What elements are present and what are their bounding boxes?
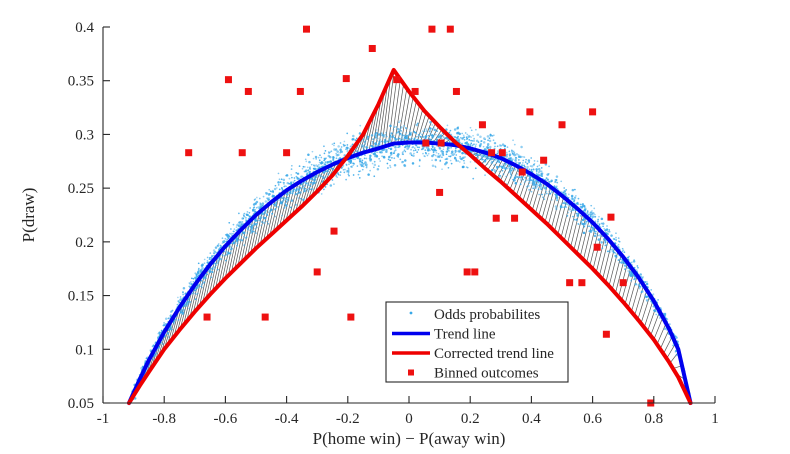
odds-point: [387, 167, 389, 169]
odds-point: [416, 136, 418, 138]
odds-point: [168, 336, 170, 338]
odds-point: [441, 138, 443, 140]
odds-point: [372, 142, 374, 144]
odds-point: [297, 192, 299, 194]
odds-point: [529, 168, 531, 170]
odds-point: [570, 206, 572, 208]
odds-point: [570, 211, 572, 213]
odds-point: [146, 358, 148, 360]
binned-outcome-point: [239, 149, 246, 156]
odds-point: [431, 148, 433, 150]
odds-point: [564, 206, 566, 208]
odds-point: [466, 138, 468, 140]
odds-point: [630, 280, 632, 282]
odds-point: [454, 136, 456, 138]
odds-point: [223, 240, 225, 242]
odds-point: [246, 232, 248, 234]
odds-point: [358, 174, 360, 176]
odds-point: [163, 322, 165, 324]
odds-point: [252, 224, 254, 226]
odds-point: [266, 221, 268, 223]
odds-point: [441, 168, 443, 170]
odds-point: [423, 155, 425, 157]
odds-point: [340, 142, 342, 144]
y-tick-label: 0.4: [75, 20, 94, 36]
odds-point: [209, 257, 211, 259]
odds-point: [601, 223, 603, 225]
odds-point: [463, 135, 465, 137]
odds-point: [301, 175, 303, 177]
odds-point: [653, 293, 655, 295]
odds-point: [526, 166, 529, 169]
odds-point: [615, 239, 617, 241]
odds-point: [400, 133, 402, 135]
odds-point: [439, 160, 441, 162]
odds-point: [259, 203, 262, 206]
odds-point: [217, 260, 219, 262]
odds-point: [346, 149, 348, 151]
odds-point: [475, 154, 477, 156]
odds-point: [256, 227, 258, 229]
odds-point: [394, 146, 397, 149]
odds-point: [378, 142, 380, 144]
odds-point: [268, 189, 270, 191]
odds-point: [188, 286, 190, 288]
odds-point: [487, 139, 489, 141]
odds-point: [584, 205, 586, 207]
odds-point: [526, 163, 528, 165]
odds-point: [554, 185, 556, 187]
odds-point: [207, 260, 209, 262]
odds-point: [473, 143, 475, 145]
odds-point: [191, 283, 193, 285]
odds-point: [567, 215, 569, 217]
odds-point: [519, 156, 522, 159]
odds-point: [237, 242, 239, 244]
odds-point: [277, 206, 279, 208]
odds-point: [568, 194, 570, 196]
odds-point: [541, 170, 543, 172]
binned-outcome-point: [493, 215, 500, 222]
odds-point: [366, 146, 369, 149]
odds-point: [576, 219, 578, 221]
odds-point: [285, 203, 287, 205]
odds-point: [499, 166, 501, 168]
binned-outcome-point: [594, 244, 601, 251]
odds-point: [609, 251, 611, 253]
odds-point: [466, 136, 468, 138]
odds-point: [543, 186, 546, 189]
odds-point: [416, 124, 419, 127]
odds-point: [359, 160, 361, 162]
odds-point: [422, 153, 424, 155]
odds-point: [511, 175, 513, 177]
odds-point: [290, 206, 292, 208]
odds-point: [518, 159, 520, 161]
odds-point: [468, 135, 470, 137]
odds-point: [328, 151, 330, 153]
odds-point: [448, 167, 450, 169]
odds-point: [523, 156, 525, 158]
x-tick-label: 0.6: [583, 411, 602, 427]
odds-point: [434, 147, 436, 149]
odds-point: [387, 141, 389, 143]
odds-point: [580, 221, 582, 223]
odds-point: [529, 182, 531, 184]
odds-point: [211, 276, 213, 278]
odds-point: [229, 236, 231, 238]
odds-point: [324, 159, 326, 161]
odds-point: [271, 209, 273, 211]
odds-point: [479, 136, 482, 139]
binned-outcome-point: [225, 76, 232, 83]
odds-point: [409, 132, 412, 135]
odds-point: [364, 141, 366, 143]
odds-point: [222, 254, 224, 256]
odds-point: [201, 283, 203, 285]
odds-point: [562, 206, 564, 208]
odds-point: [520, 179, 522, 181]
odds-point: [580, 204, 582, 206]
odds-point: [408, 147, 410, 149]
odds-point: [452, 152, 454, 154]
odds-point: [207, 257, 209, 259]
odds-point: [297, 197, 299, 199]
odds-point: [487, 157, 490, 160]
odds-point: [356, 138, 358, 140]
odds-point: [291, 168, 293, 170]
odds-point: [448, 155, 450, 157]
odds-point: [308, 191, 310, 193]
odds-point: [319, 154, 321, 156]
odds-point: [305, 182, 307, 184]
odds-point: [195, 290, 197, 292]
odds-point: [443, 138, 445, 140]
odds-point: [540, 188, 542, 190]
odds-point: [582, 223, 584, 225]
odds-point: [411, 138, 413, 140]
odds-point: [490, 134, 492, 136]
odds-point: [522, 162, 524, 164]
binned-outcome-point: [436, 189, 443, 196]
odds-point: [429, 139, 431, 141]
odds-point: [463, 162, 465, 164]
odds-point: [510, 170, 512, 172]
odds-point: [253, 231, 255, 233]
odds-point: [614, 238, 616, 240]
odds-point: [549, 194, 551, 196]
odds-point: [186, 303, 188, 305]
odds-point: [540, 186, 542, 188]
odds-point: [227, 254, 229, 256]
odds-point: [359, 170, 361, 172]
odds-point: [311, 188, 314, 191]
odds-point: [446, 153, 448, 155]
odds-point: [518, 176, 520, 178]
odds-point: [198, 262, 200, 264]
odds-point: [357, 147, 359, 149]
odds-point: [397, 131, 399, 133]
odds-point: [508, 166, 510, 168]
odds-point: [544, 194, 546, 196]
odds-point: [433, 154, 435, 156]
odds-point: [502, 163, 504, 165]
odds-point: [445, 161, 448, 164]
odds-point: [429, 134, 431, 136]
odds-point: [550, 181, 552, 183]
odds-point: [241, 234, 243, 236]
binned-outcome-point: [526, 108, 533, 115]
odds-point: [246, 214, 248, 216]
odds-point: [222, 237, 224, 239]
odds-point: [302, 168, 304, 170]
odds-point: [538, 165, 540, 167]
odds-point: [254, 228, 256, 230]
odds-point: [486, 147, 489, 150]
odds-point: [542, 196, 544, 198]
odds-point: [236, 245, 238, 247]
odds-point: [507, 168, 509, 170]
odds-point: [556, 175, 559, 178]
odds-point: [236, 241, 238, 243]
odds-point: [605, 244, 607, 246]
odds-point: [204, 262, 206, 264]
odds-point: [563, 190, 566, 193]
odds-point: [264, 212, 267, 215]
odds-point: [401, 136, 403, 138]
odds-point: [429, 130, 431, 132]
odds-point: [209, 252, 211, 254]
odds-point: [402, 153, 404, 155]
odds-point: [533, 168, 535, 170]
binned-outcome-point: [519, 169, 526, 176]
odds-point: [412, 162, 415, 165]
odds-point: [168, 317, 170, 319]
odds-point: [312, 182, 314, 184]
odds-point: [454, 128, 457, 131]
odds-point: [217, 244, 220, 247]
odds-point: [461, 133, 463, 135]
odds-point: [337, 172, 339, 174]
odds-point: [347, 144, 349, 146]
odds-point: [505, 163, 507, 165]
odds-point: [283, 179, 286, 182]
odds-point: [381, 132, 383, 134]
odds-point: [256, 207, 258, 209]
odds-point: [403, 135, 405, 137]
odds-point: [574, 219, 576, 221]
odds-point: [425, 153, 427, 155]
odds-point: [354, 158, 356, 160]
y-tick-label: 0.3: [75, 127, 94, 143]
odds-point: [279, 178, 281, 180]
binned-outcome-point: [303, 26, 310, 33]
odds-point: [257, 206, 259, 208]
odds-point: [310, 188, 312, 190]
x-tick-label: 0.8: [644, 411, 663, 427]
odds-point: [389, 165, 391, 167]
odds-point: [321, 193, 323, 195]
odds-point: [414, 147, 416, 149]
odds-point: [215, 252, 217, 254]
odds-point: [650, 289, 652, 291]
odds-point: [235, 229, 237, 231]
odds-point: [551, 199, 553, 201]
odds-point: [435, 134, 437, 136]
odds-point: [268, 197, 270, 199]
odds-point: [228, 222, 230, 224]
odds-point: [212, 255, 214, 257]
odds-point: [465, 132, 467, 134]
odds-point: [607, 251, 609, 253]
odds-point: [514, 154, 517, 157]
odds-point: [422, 147, 425, 150]
y-tick-label: 0.2: [75, 235, 94, 251]
odds-point: [230, 249, 232, 251]
odds-point: [545, 191, 547, 193]
odds-point: [285, 186, 287, 188]
odds-point: [514, 177, 517, 180]
odds-point: [467, 167, 469, 169]
odds-point: [310, 181, 312, 183]
odds-point: [363, 145, 365, 147]
odds-point: [522, 160, 524, 162]
odds-point: [580, 206, 582, 208]
odds-point: [500, 145, 502, 147]
odds-point: [419, 165, 421, 167]
odds-point: [389, 159, 391, 161]
odds-point: [233, 230, 235, 232]
odds-point: [325, 161, 327, 163]
odds-point: [332, 143, 334, 145]
odds-point: [352, 135, 355, 138]
odds-point: [582, 205, 584, 207]
odds-point: [518, 154, 520, 156]
odds-point: [426, 128, 428, 130]
odds-point: [413, 150, 415, 152]
binned-outcome-point: [343, 75, 350, 82]
binned-outcome-point: [283, 149, 290, 156]
odds-point: [555, 179, 557, 181]
odds-point: [389, 125, 392, 128]
odds-point: [457, 126, 459, 128]
odds-point: [333, 142, 335, 144]
odds-point: [494, 158, 497, 161]
odds-point: [503, 173, 505, 175]
odds-point: [277, 181, 280, 184]
odds-point: [525, 159, 527, 161]
odds-point: [445, 158, 447, 160]
odds-point: [450, 155, 452, 157]
odds-point: [429, 150, 431, 152]
odds-point: [376, 151, 378, 153]
odds-point: [296, 188, 298, 190]
odds-point: [405, 132, 407, 134]
odds-point: [502, 170, 504, 172]
odds-point: [608, 229, 610, 231]
odds-point: [602, 225, 604, 227]
odds-point: [204, 259, 206, 261]
odds-point: [281, 187, 283, 189]
odds-point: [497, 145, 499, 147]
odds-point: [218, 243, 220, 245]
odds-point: [522, 179, 524, 181]
odds-point: [633, 279, 635, 281]
odds-point: [487, 145, 489, 147]
binned-outcome-point: [204, 314, 211, 321]
odds-point: [470, 161, 472, 163]
odds-point: [243, 236, 245, 238]
legend-item-label: Binned outcomes: [434, 366, 539, 382]
odds-point: [511, 149, 513, 151]
odds-point: [315, 156, 318, 159]
odds-point: [602, 222, 605, 225]
odds-point: [565, 189, 567, 191]
odds-point: [363, 163, 365, 165]
odds-point: [268, 199, 270, 201]
odds-point: [411, 154, 413, 156]
odds-point: [244, 231, 246, 233]
odds-point: [548, 190, 550, 192]
odds-point: [378, 158, 380, 160]
legend-item-label: Trend line: [434, 327, 496, 343]
odds-point: [161, 330, 163, 332]
odds-point: [459, 156, 461, 158]
odds-point: [477, 134, 480, 137]
odds-point: [319, 159, 321, 161]
odds-point: [377, 138, 379, 140]
odds-point: [350, 145, 352, 147]
odds-point: [526, 186, 528, 188]
odds-point: [366, 167, 368, 169]
odds-point: [412, 154, 415, 157]
odds-point: [335, 148, 337, 150]
odds-point: [242, 231, 244, 233]
odds-point: [384, 134, 386, 136]
odds-point: [307, 154, 310, 157]
odds-point: [556, 182, 558, 184]
odds-point: [480, 143, 483, 146]
odds-point: [425, 135, 428, 138]
odds-point: [290, 174, 292, 176]
odds-point: [419, 159, 421, 161]
odds-point: [291, 199, 294, 202]
odds-point: [416, 151, 418, 153]
odds-point: [272, 191, 274, 193]
odds-point: [283, 183, 285, 185]
odds-point: [396, 154, 399, 157]
odds-point: [414, 138, 416, 140]
odds-point: [223, 255, 225, 257]
odds-point: [572, 216, 574, 218]
odds-point: [410, 149, 412, 151]
odds-point: [269, 210, 271, 212]
odds-point: [593, 208, 595, 210]
odds-point: [197, 286, 200, 289]
binned-outcome-point: [428, 26, 435, 33]
odds-point: [504, 156, 506, 158]
odds-point: [597, 235, 599, 237]
odds-point: [577, 213, 579, 215]
odds-point: [278, 173, 280, 175]
odds-point: [534, 187, 537, 190]
chart-legend[interactable]: Odds probabilitesTrend lineCorrected tre…: [386, 302, 568, 382]
odds-point: [389, 137, 391, 139]
odds-point: [312, 184, 314, 186]
odds-point: [431, 159, 433, 161]
binned-outcome-point: [578, 279, 585, 286]
odds-point: [537, 166, 539, 168]
